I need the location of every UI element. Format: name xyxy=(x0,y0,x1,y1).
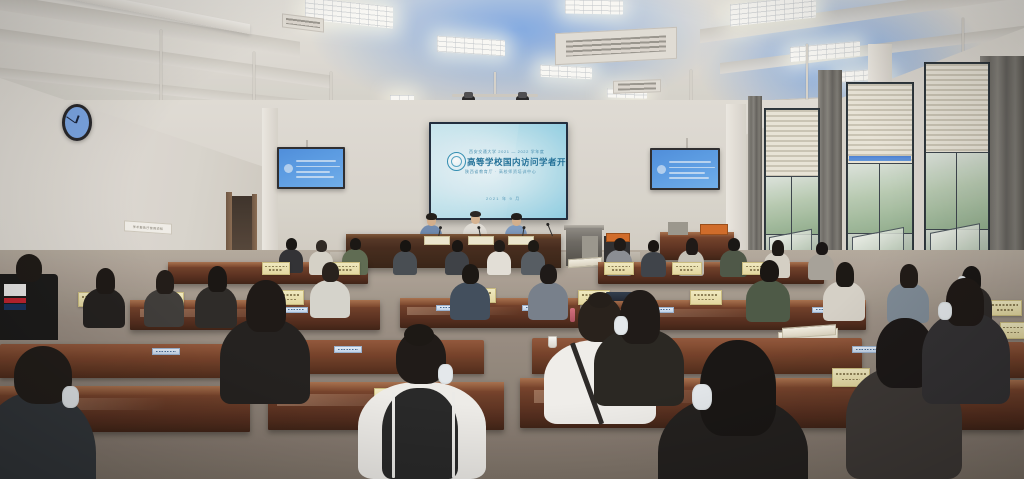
paper-cup xyxy=(548,336,557,348)
curtain-left xyxy=(748,96,762,256)
tv-right-emblem xyxy=(657,165,666,174)
ac-vent xyxy=(613,79,661,94)
window-blind-right[interactable] xyxy=(926,64,988,153)
equipment-grey-unit xyxy=(582,236,598,258)
tv-left xyxy=(277,147,345,189)
camera-mount-rod xyxy=(494,72,496,96)
screen-date: 2021 年 9 月 xyxy=(486,196,520,202)
seat-number-plate xyxy=(152,348,180,355)
window-blue-reflection xyxy=(849,156,912,161)
screen-organization: 陕西省教育厅 · 高校师资培训中心 xyxy=(465,169,536,175)
screen-title: 高等学校国内访问学者开学典礼 xyxy=(467,156,566,168)
wall-plaque-text: 学术报告厅使用须知 xyxy=(133,224,164,230)
face-mask xyxy=(62,386,79,408)
name-placard xyxy=(988,300,1022,316)
vest-stripe xyxy=(392,392,395,478)
main-projection-screen: 西安交通大学 2021 — 2022 学年度 高等学校国内访问学者开学典礼 陕西… xyxy=(429,122,568,220)
face-mask xyxy=(938,302,952,320)
curtain-mid xyxy=(818,70,842,265)
name-placard xyxy=(262,262,290,275)
back-console-orange-unit xyxy=(700,224,728,235)
window-blind-left[interactable] xyxy=(766,110,818,177)
bench-row-front-center xyxy=(284,340,484,374)
window-blind-center[interactable] xyxy=(848,84,912,164)
window-right xyxy=(924,62,990,266)
ceiling-panel-light xyxy=(565,0,623,15)
name-placard xyxy=(604,262,634,275)
seat-number-plate xyxy=(334,346,362,353)
fila-logo-navy-bar xyxy=(4,304,26,310)
face-mask xyxy=(692,384,712,410)
head-table-placard xyxy=(468,236,494,245)
wall-pillar-left xyxy=(262,108,278,258)
seat-number-plate xyxy=(284,307,308,313)
water-bottle xyxy=(570,308,575,322)
head-table-placard xyxy=(424,236,450,245)
ac-vent xyxy=(555,27,677,65)
fila-logo-red-bar xyxy=(4,298,26,303)
tv-left-emblem xyxy=(284,164,293,173)
lecture-hall-photo: 学术报告厅使用须知 西安交通大学 2021 — 2022 学年度 xyxy=(0,0,1024,479)
name-placard xyxy=(690,290,722,305)
window-center xyxy=(846,82,914,266)
screen-subtitle: 西安交通大学 2021 — 2022 学年度 xyxy=(469,149,544,155)
fila-logo-box xyxy=(4,284,26,296)
vest-stripe-2 xyxy=(452,392,455,478)
back-console-monitor xyxy=(668,222,688,235)
clock-hand-minute xyxy=(66,116,76,123)
window-left xyxy=(764,108,820,262)
face-mask xyxy=(614,316,628,335)
name-placard xyxy=(672,262,702,275)
tv-right xyxy=(650,148,720,190)
face-mask xyxy=(438,364,453,384)
university-emblem-icon xyxy=(447,152,466,171)
wall-clock xyxy=(62,104,92,141)
